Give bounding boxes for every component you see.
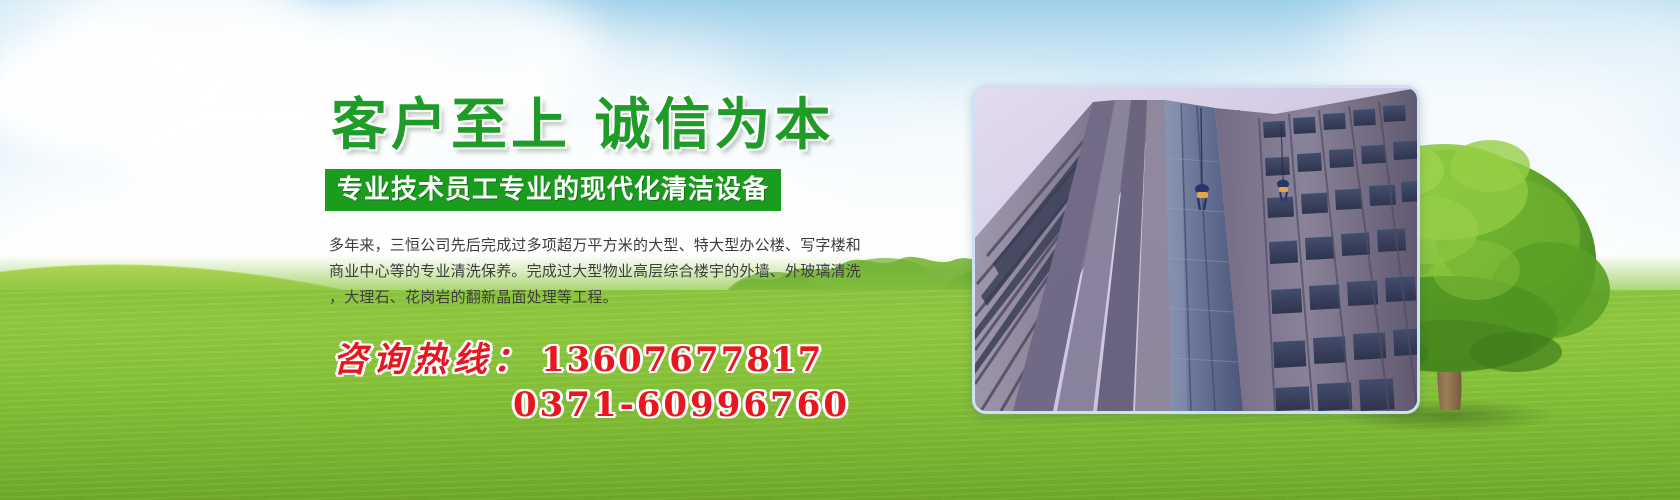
description-line: 商业中心等的专业清洗保养。完成过大型物业高层综合楼宇的外墙、外玻璃清洗 [329,259,889,285]
description-text: 多年来，三恒公司先后完成过多项超万平方米的大型、特大型办公楼、写字楼和 商业中心… [329,233,889,312]
description-line: ，大理石、花岗岩的翻新晶面处理等工程。 [329,285,889,311]
contact-phones: 咨询热线：13607677817 0371-60996760 [333,338,895,430]
phone-mobile-row[interactable]: 咨询热线：13607677817 [333,338,895,384]
banner-text-block: 客户至上 诚信为本 专业技术员工专业的现代化清洁设备 多年来，三恒公司先后完成过… [325,96,895,429]
phone-landline-number[interactable]: 0371-60996760 [513,385,850,425]
description-line: 多年来，三恒公司先后完成过多项超万平方米的大型、特大型办公楼、写字楼和 [329,233,889,259]
phone-landline-row[interactable]: 0371-60996760 [513,383,895,429]
tagline-bar: 专业技术员工专业的现代化清洁设备 [325,169,781,211]
building-photo[interactable] [972,85,1420,414]
page-title: 客户至上 诚信为本 [331,96,895,155]
hotline-label: 咨询热线： [333,340,533,380]
phone-mobile-number[interactable]: 13607677817 [541,340,823,380]
building-photo-image [975,88,1417,411]
promo-banner: 客户至上 诚信为本 专业技术员工专业的现代化清洁设备 多年来，三恒公司先后完成过… [0,0,1680,500]
